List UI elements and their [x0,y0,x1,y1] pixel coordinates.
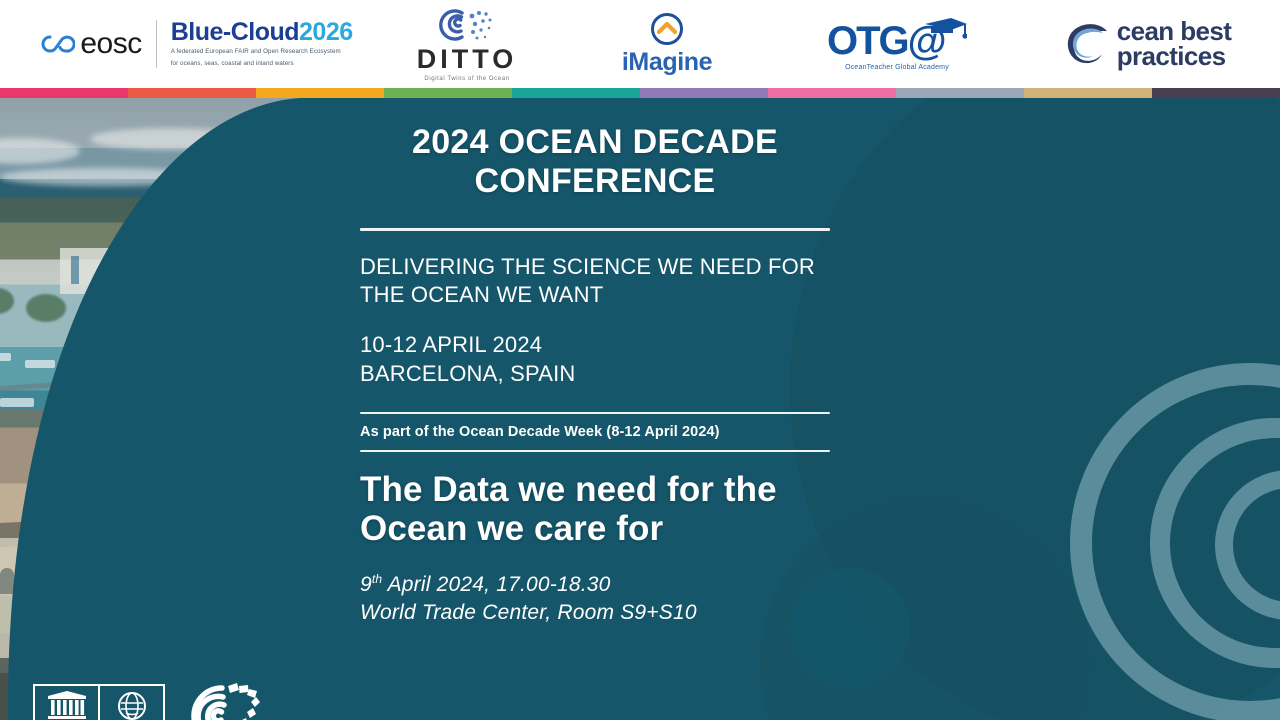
stripe-segment-4 [384,88,512,98]
session-day-ordinal: th [372,572,382,586]
stripe-segment-3 [256,88,384,98]
ditto-wordmark: DITTO [417,44,518,75]
barcelona-harbour-photo [0,98,300,720]
page-title: 2024 OCEAN DECADE CONFERENCE [360,98,830,202]
conference-banner: 2024 OCEAN DECADE CONFERENCE DELIVERING … [0,98,1280,720]
photo-boat [25,360,55,368]
photo-dock [0,378,120,393]
photo-cloud [0,138,80,164]
photo-tree [180,618,240,678]
obp-line2: practices [1117,44,1232,69]
photo-boat [0,353,11,361]
session-title: The Data we need for the Ocean we care f… [360,470,830,548]
ocean-decade-wave-icon [182,678,260,720]
photo-boat [0,398,34,407]
session-details: 9th April 2024, 17.00-18.30 World Trade … [360,571,830,628]
ditto-subtitle: Digital Twins of the Ocean [424,76,509,82]
stripe-segment-6 [640,88,768,98]
imagine-logo: iMagine [562,0,772,88]
conference-tagline: DELIVERING THE SCIENCE WE NEED FOR THE O… [360,253,830,310]
stripe-segment-2 [128,88,256,98]
circle-chevron-icon [650,12,684,46]
photo-tree [0,288,14,314]
stripe-segment-10 [1152,88,1280,98]
stripe-segment-7 [768,88,896,98]
photo-boat [60,394,90,403]
infinity-icon [41,33,75,55]
photo-cloud [0,168,210,186]
spiral-dots-icon [432,7,502,43]
photo-tree [26,294,66,322]
photo-boat [70,356,98,364]
otga-subtitle: OceanTeacher Global Academy [845,64,949,71]
stripe-segment-5 [512,88,640,98]
blue-cloud-logo: Blue-Cloud2026 A federated European FAIR… [171,20,353,69]
photo-tree [146,290,186,316]
svg-text:OTG@: OTG@ [827,19,945,62]
photo-window [0,568,14,594]
stripe-segment-1 [0,88,128,98]
logo-divider [156,20,157,68]
wave-swirl-icon [1063,21,1111,67]
photo-boat [170,438,208,448]
session-datetime-rest: April 2024, 17.00-18.30 [382,573,610,596]
photo-window [120,568,134,594]
ocean-decade-week-note: As part of the Ocean Decade Week (8-12 A… [360,422,830,444]
photo-window [71,256,79,284]
photo-dock [60,415,230,426]
sdg-color-stripe [0,88,1280,98]
conference-location: BARCELONA, SPAIN [360,359,830,388]
ditto-logo: DITTO Digital Twins of the Ocean [372,0,562,88]
photo-window [40,568,54,594]
stripe-segment-8 [896,88,1024,98]
otga-wordmark: OTG@ [827,18,967,62]
otga-logo: OTG@ OceanTeacher Global Academy [772,0,1022,88]
ocean-best-practices-wordmark: cean best practices [1117,19,1232,68]
blue-cloud-title-main: Blue-Cloud [171,18,299,46]
photo-window [112,258,128,280]
photo-boat [90,434,124,443]
conference-dates-location: 10-12 APRIL 2024 BARCELONA, SPAIN [360,330,830,388]
greek-temple-icon [35,686,98,720]
session-day: 9 [360,573,372,596]
week-note-divider-top [360,412,830,414]
conference-dates: 10-12 APRIL 2024 [360,330,830,359]
unesco-ioc-logo: unesco Intergovernmental Oceanographic C… [33,684,173,720]
banner-text-column: 2024 OCEAN DECADE CONFERENCE DELIVERING … [360,98,830,627]
photo-window [80,568,94,594]
blue-cloud-subtitle-line1: A federated European FAIR and Open Resea… [171,48,353,57]
eosc-logo: eosc [41,27,141,61]
graduation-cap-icon: OTG@ [827,18,967,62]
imagine-wordmark: iMagine [622,48,712,77]
session-datetime: 9th April 2024, 17.00-18.30 [360,571,830,599]
ioc-emblem-icon [98,686,163,720]
title-divider [360,228,830,231]
blue-cloud-title: Blue-Cloud2026 [171,20,353,45]
eosc-wordmark: eosc [80,27,141,61]
session-venue: World Trade Center, Room S9+S10 [360,599,830,627]
blue-cloud-title-year: 2026 [299,18,353,46]
blue-cloud-subtitle-line2: for oceans, seas, coastal and inland wat… [171,60,353,69]
ocean-best-practices-logo: cean best practices [1022,0,1272,88]
photo-window [160,568,174,594]
week-note-divider-bottom [360,450,830,452]
partner-logo-bar: eosc Blue-Cloud2026 A federated European… [0,0,1280,88]
photo-tree [90,294,134,322]
photo-boat [140,403,176,412]
photo-boat [120,364,152,373]
eosc-blue-cloud-logo-group: eosc Blue-Cloud2026 A federated European… [0,0,372,88]
ocean-decade-logo: 2021 2030 United Nations Decade of Ocean… [182,678,377,720]
photo-cloud [90,128,250,150]
stripe-segment-9 [1024,88,1152,98]
